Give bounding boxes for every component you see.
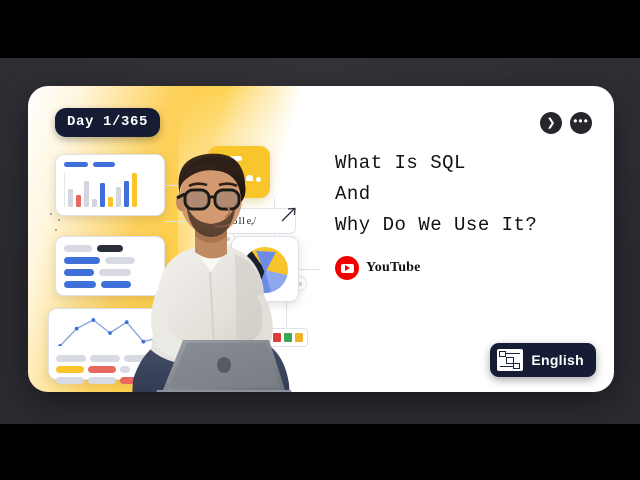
line-point [108, 331, 112, 335]
list-pill [64, 269, 94, 276]
tag-chip [64, 162, 88, 167]
bar [92, 199, 97, 207]
line-point [75, 327, 79, 331]
list-pill [97, 245, 123, 252]
headline-line-1: What Is SQL [335, 148, 614, 179]
headline-line-3: Why Do We Use It? [335, 210, 614, 241]
bar [116, 187, 121, 207]
bar [108, 197, 113, 207]
bar [84, 181, 89, 207]
tag-chip [93, 162, 115, 167]
youtube-attribution: YouTube [335, 256, 421, 280]
color-swatch [295, 333, 303, 342]
line-point [91, 318, 95, 322]
language-badge[interactable]: English [490, 343, 596, 377]
line-card-pill [56, 377, 84, 384]
connector-line [299, 269, 321, 270]
video-frame: B1l e,/ [0, 0, 640, 480]
bar [68, 189, 73, 207]
bar [100, 183, 105, 207]
youtube-icon [335, 256, 359, 280]
list-pill [64, 245, 92, 252]
next-slide-button[interactable]: ❯ [540, 112, 562, 134]
decor-dot [58, 219, 60, 221]
list-pill [64, 257, 100, 264]
line-card-pill [88, 377, 116, 384]
line-card-pill [90, 355, 120, 362]
decor-dot [50, 213, 52, 215]
language-label: English [531, 352, 584, 368]
day-counter-badge: Day 1/365 [55, 108, 160, 137]
subtitle-translate-icon [497, 349, 523, 371]
line-card-pill [56, 355, 86, 362]
line-card-pill [88, 366, 116, 373]
youtube-label: YouTube [366, 260, 421, 276]
more-options-button[interactable]: ••• [570, 112, 592, 134]
person-illustration [123, 144, 295, 392]
list-pill [64, 281, 96, 288]
headline-line-2: And [335, 179, 614, 210]
headline-block: What Is SQL And Why Do We Use It? [335, 148, 614, 240]
bar [76, 195, 81, 207]
presentation-slide: B1l e,/ [28, 86, 614, 392]
ellipsis-icon: ••• [573, 115, 589, 127]
decor-dot [55, 229, 57, 231]
line-card-pill [56, 366, 84, 373]
chevron-right-icon: ❯ [546, 118, 555, 129]
